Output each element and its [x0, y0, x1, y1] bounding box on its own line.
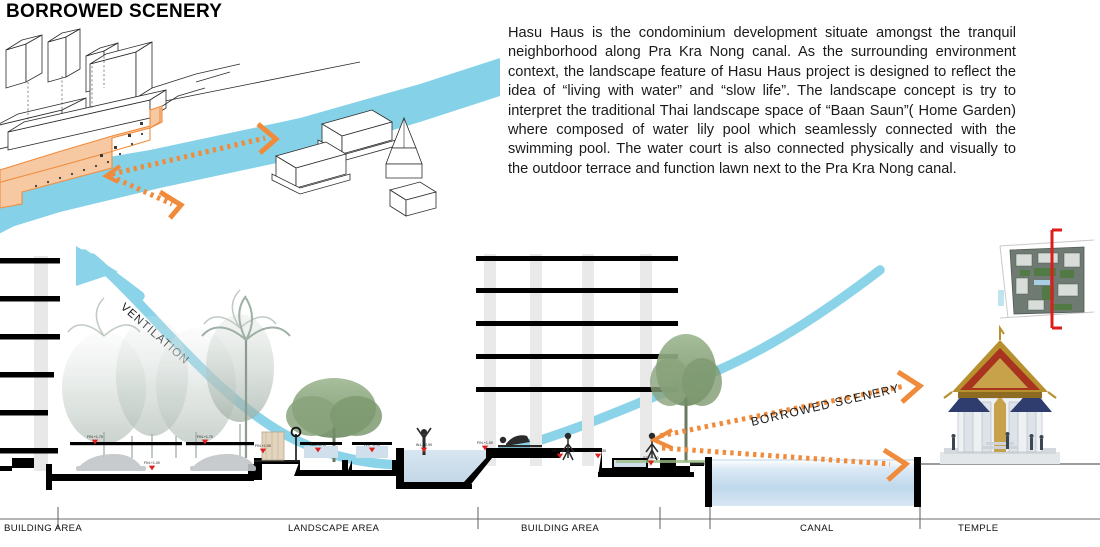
axo-massing-blocks — [0, 29, 166, 150]
thai-temple-elevation — [940, 328, 1060, 464]
parked-cars — [76, 454, 256, 471]
left-building-elevation — [0, 256, 60, 490]
canal-water-section — [705, 457, 921, 507]
borrowed-scenery-label: BORROWED SCENERY — [750, 381, 902, 429]
level-marker-label: FIN.+1.00 — [477, 441, 493, 445]
level-marker-label: W.L.+0.90 — [416, 443, 432, 447]
level-marker-label: W.L.+0.15 — [310, 443, 326, 447]
level-marker-triangle — [149, 466, 155, 471]
landscape-section: VENTILATION — [0, 236, 1100, 511]
level-marker-label: FIN.+1.00 — [255, 444, 271, 448]
center-building-elevation — [476, 254, 678, 466]
project-description: Hasu Haus is the condominium development… — [508, 24, 1016, 179]
site-axonometric-diagram — [0, 22, 500, 240]
level-marker-label: FIN.+0.40 — [552, 449, 568, 453]
level-marker-label: W.L.+0.30 — [590, 449, 606, 453]
background-trees-left — [62, 290, 276, 458]
zone-label-1: LANDSCAPE AREA — [288, 523, 379, 534]
level-marker-label: W.L.+0.90 — [364, 443, 380, 447]
presentation-board: BORROWED SCENERY — [0, 0, 1100, 547]
zone-label-4: TEMPLE — [958, 523, 998, 534]
zone-label-3: CANAL — [800, 523, 834, 534]
level-marker-triangle — [595, 454, 601, 459]
level-marker-label: FIN.+1.70 — [87, 435, 103, 439]
zone-label-2: BUILDING AREA — [521, 523, 599, 534]
zone-ticks — [58, 507, 920, 529]
level-marker: FIN.+1.00 — [144, 461, 160, 470]
page-title: BORROWED SCENERY — [6, 1, 222, 23]
key-plan-inset — [998, 226, 1098, 334]
zone-label-0: BUILDING AREA — [4, 523, 82, 534]
level-marker-label: FIN.+1.00 — [144, 461, 160, 465]
level-marker-label: EQ.+0.00 — [643, 456, 658, 460]
level-marker-label: FIN.+1.70 — [197, 435, 213, 439]
zone-label-strip: BUILDING AREALANDSCAPE AREABUILDING AREA… — [0, 505, 1100, 547]
